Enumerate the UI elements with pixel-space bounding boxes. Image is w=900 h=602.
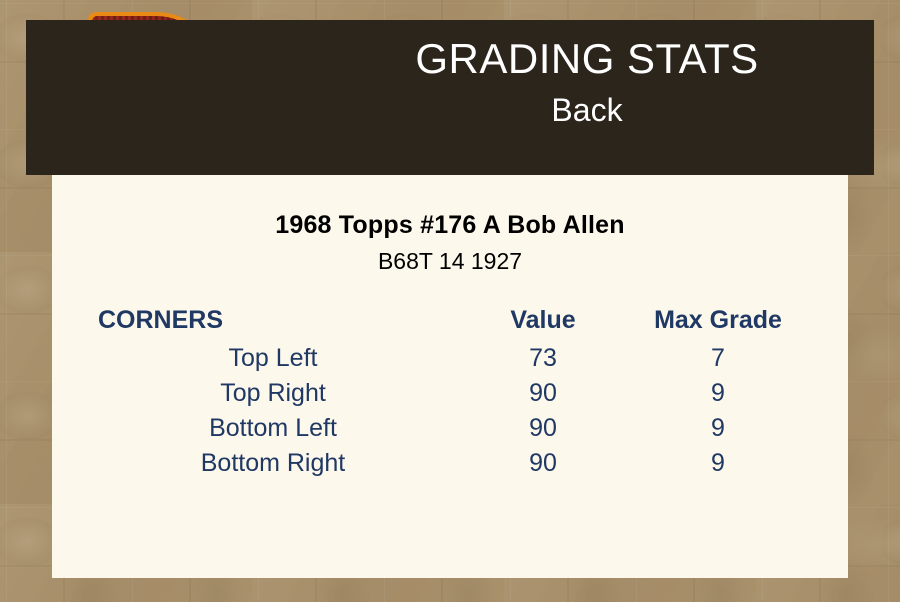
- corner-max-grade: 9: [638, 446, 798, 481]
- column-header-value: Value: [448, 303, 638, 341]
- corner-value: 73: [448, 341, 638, 376]
- content-panel: 1968 Topps #176 A Bob Allen B68T 14 1927…: [52, 175, 848, 578]
- stats-table-body: Top Left737Top Right909Bottom Left909Bot…: [98, 341, 798, 481]
- table-row: Top Right909: [98, 376, 798, 411]
- corner-label: Bottom Right: [98, 446, 448, 481]
- card-title: 1968 Topps #176 A Bob Allen: [52, 211, 848, 240]
- header-titles: GRADING STATS Back: [300, 34, 874, 130]
- card-code: B68T 14 1927: [52, 248, 848, 275]
- corner-max-grade-alert: 7: [638, 341, 798, 376]
- corner-value: 90: [448, 411, 638, 446]
- corner-value: 90: [448, 376, 638, 411]
- table-header-row: CORNERS Value Max Grade: [98, 303, 798, 341]
- column-header-max-grade: Max Grade: [638, 303, 798, 341]
- corner-label: Top Left: [98, 341, 448, 376]
- page-subtitle: Back: [300, 90, 874, 130]
- corner-max-grade: 9: [638, 376, 798, 411]
- corner-value: 90: [448, 446, 638, 481]
- column-header-corners: CORNERS: [98, 303, 448, 341]
- grading-stats-table: CORNERS Value Max Grade Top Left737Top R…: [98, 303, 798, 481]
- stats-table-head: CORNERS Value Max Grade: [98, 303, 798, 341]
- table-row: Top Left737: [98, 341, 798, 376]
- corner-label: Top Right: [98, 376, 448, 411]
- corner-label: Bottom Left: [98, 411, 448, 446]
- table-row: Bottom Right909: [98, 446, 798, 481]
- table-row: Bottom Left909: [98, 411, 798, 446]
- page-title: GRADING STATS: [300, 34, 874, 84]
- corner-max-grade: 9: [638, 411, 798, 446]
